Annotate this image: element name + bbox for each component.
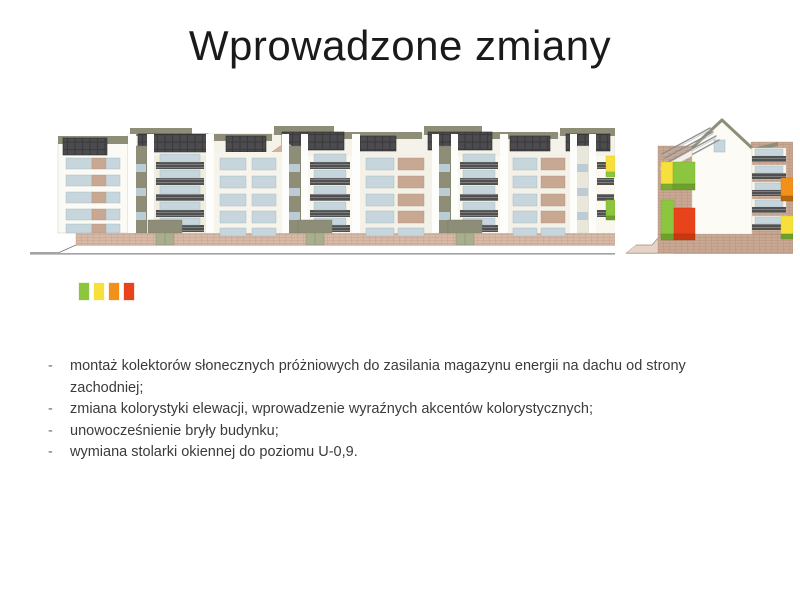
swatch-orange — [108, 282, 120, 301]
list-item: - wymiana stolarki okiennej do poziomu U… — [48, 442, 758, 464]
list-item: - zmiana kolorystyki elewacji, wprowadze… — [48, 399, 758, 421]
page-title: Wprowadzone zmiany — [0, 22, 800, 70]
bullet-text: unowocześnienie bryły budynku; — [70, 421, 758, 443]
bullet-text: zmiana kolorystyki elewacji, wprowadzeni… — [70, 399, 758, 421]
bullet-marker: - — [48, 399, 70, 421]
color-palette-swatches — [78, 282, 135, 301]
building-elevation-figure — [0, 112, 800, 277]
bullet-marker: - — [48, 442, 70, 464]
swatch-red — [123, 282, 135, 301]
changes-bullet-list: - montaż kolektorów słonecznych próżniow… — [48, 356, 758, 464]
main-front-elevation-drawing — [30, 112, 615, 277]
list-item: - montaż kolektorów słonecznych próżniow… — [48, 356, 758, 399]
bullet-marker: - — [48, 356, 70, 378]
swatch-green — [78, 282, 90, 301]
bullet-text: wymiana stolarki okiennej do poziomu U-0… — [70, 442, 758, 464]
bullet-text: montaż kolektorów słonecznych próżniowyc… — [70, 356, 758, 399]
bullet-marker: - — [48, 421, 70, 443]
side-gable-elevation-drawing — [618, 112, 793, 277]
swatch-yellow — [93, 282, 105, 301]
list-item: - unowocześnienie bryły budynku; — [48, 421, 758, 443]
